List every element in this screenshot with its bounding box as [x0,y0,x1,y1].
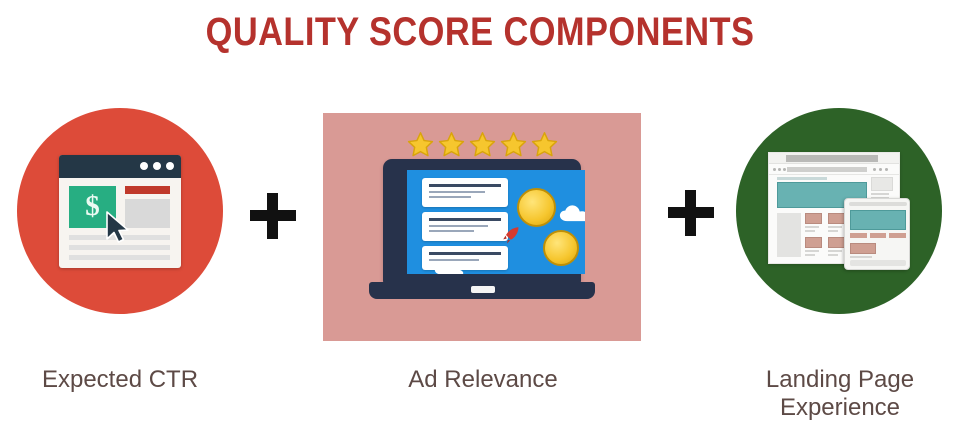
ad-document-card [422,212,508,241]
device-speaker [849,202,907,206]
text-line [828,250,842,252]
browser-content: $ [59,178,181,268]
page-title: QUALITY SCORE COMPONENTS [67,10,893,55]
card-thumbnail [850,243,876,254]
ad-document-card [422,178,508,207]
grid-card [828,213,845,232]
dollar-symbol: $ [85,192,100,221]
cursor-arrow-icon [105,211,131,243]
plus-operator-1 [250,193,296,239]
nav-dot-icon [778,168,781,171]
browser-titlebar [59,155,181,178]
browser-tab [786,155,878,162]
text-line [69,245,170,250]
mobile-nav-row [850,233,906,238]
card-thumbnail [828,213,845,224]
star-icon [469,131,496,158]
text-line [805,250,819,252]
component-badge-expected-ctr: $ [17,108,223,314]
nav-chip [889,233,906,238]
text-line [429,191,485,193]
nav-chip [870,233,887,238]
star-icon [531,131,558,158]
caption-expected-ctr: Expected CTR [0,366,240,394]
laptop-screen [407,170,585,274]
infographic-canvas: QUALITY SCORE COMPONENTS $ [0,0,960,443]
text-line [429,230,474,232]
text-line [805,230,815,232]
laptop-lid [383,159,581,284]
text-line [429,196,471,198]
mobile-device-mockup [844,198,910,270]
caption-ad-relevance: Ad Relevance [363,366,603,394]
star-icon [438,131,465,158]
headline-line [429,252,501,255]
breadcrumb-line [777,177,827,180]
ad-body-block [125,199,170,228]
browser-urlbar-row [769,164,899,175]
device-home-bar [850,260,906,266]
coin-icon [517,188,556,227]
rocket-cursor-icon [502,226,520,245]
coin-icon [543,230,579,266]
page-sidebar [777,213,801,257]
card-thumbnail [805,213,822,224]
nav-dot-icon [773,168,776,171]
nav-chip [850,233,867,238]
headline-line [429,184,501,187]
window-dot-icon [140,162,148,170]
browser-titlebar [769,153,899,164]
nav-dot-icon [879,168,882,171]
caption-landing-page-experience: Landing Page Experience [720,366,960,422]
grid-card [805,237,822,256]
text-line [828,230,838,232]
ad-headline-bar [125,186,170,194]
star-rating-group [323,131,641,158]
laptop-trackpad [471,286,495,293]
grid-card [828,237,845,256]
url-bar [787,167,867,172]
window-dot-icon [166,162,174,170]
headline-line [429,218,501,221]
grid-card [850,243,876,258]
text-line [429,225,488,227]
text-line [828,226,842,228]
grid-card [805,213,822,232]
text-line [805,254,815,256]
component-badge-landing-page [736,108,942,314]
text-line [828,254,838,256]
text-line [69,255,170,260]
plus-operator-2 [668,190,714,236]
card-thumbnail [805,237,822,248]
card-thumbnail [828,237,845,248]
nav-dot-icon [885,168,888,171]
window-dot-icon [153,162,161,170]
nav-dot-icon [783,168,786,171]
responsive-website-mockup-icon [768,152,910,270]
star-icon [500,131,527,158]
laptop-icon [369,159,595,314]
text-line [871,193,889,195]
nav-dot-icon [873,168,876,171]
cloud-icon [559,204,585,222]
cloud-icon [434,260,464,274]
text-line [805,226,819,228]
component-badge-ad-relevance [323,113,641,341]
browser-ad-dollar-cursor-icon: $ [59,155,181,268]
text-line [850,256,872,258]
sidebar-widget [871,177,893,191]
star-icon [407,131,434,158]
mobile-hero-banner [850,210,906,230]
